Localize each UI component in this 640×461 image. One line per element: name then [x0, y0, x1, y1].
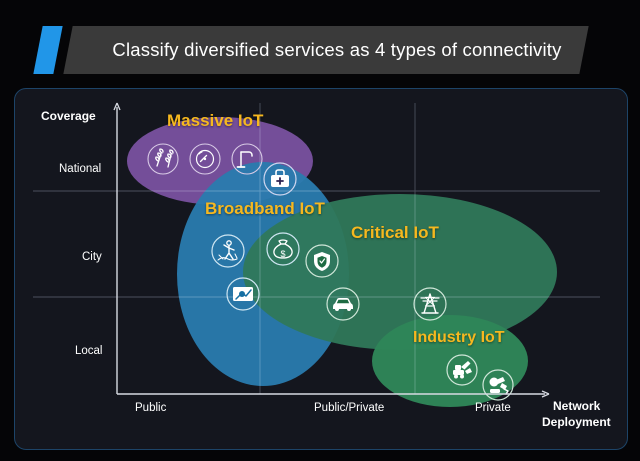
y-axis-title: Coverage [41, 109, 96, 123]
y-tick-city: City [82, 251, 102, 263]
x-tick-public-private: Public/Private [314, 402, 384, 414]
page-title: Classify diversified services as 4 types… [92, 26, 582, 74]
title-accent-bar [33, 26, 62, 74]
chart-svg: $ [15, 89, 627, 449]
slide-canvas: Classify diversified services as 4 types… [0, 0, 640, 461]
bubble-label-industry-iot: Industry IoT [413, 329, 505, 347]
bubble-label-massive-iot: Massive IoT [167, 111, 263, 131]
bubble-label-broadband-iot: Broadband IoT [205, 199, 325, 219]
y-tick-national: National [59, 163, 101, 175]
x-tick-private: Private [475, 402, 511, 414]
bubble-group [127, 117, 557, 407]
slide-title-bar: Classify diversified services as 4 types… [0, 24, 640, 76]
quadrant-chart: $ [15, 89, 627, 449]
x-axis-title-line2: Deployment [542, 415, 611, 429]
y-tick-local: Local [75, 345, 103, 357]
x-axis-title-line1: Network [553, 399, 600, 413]
bubble-label-critical-iot: Critical IoT [351, 223, 439, 243]
chart-panel: $ [14, 88, 628, 450]
x-tick-public: Public [135, 402, 166, 414]
svg-text:$: $ [280, 249, 285, 259]
